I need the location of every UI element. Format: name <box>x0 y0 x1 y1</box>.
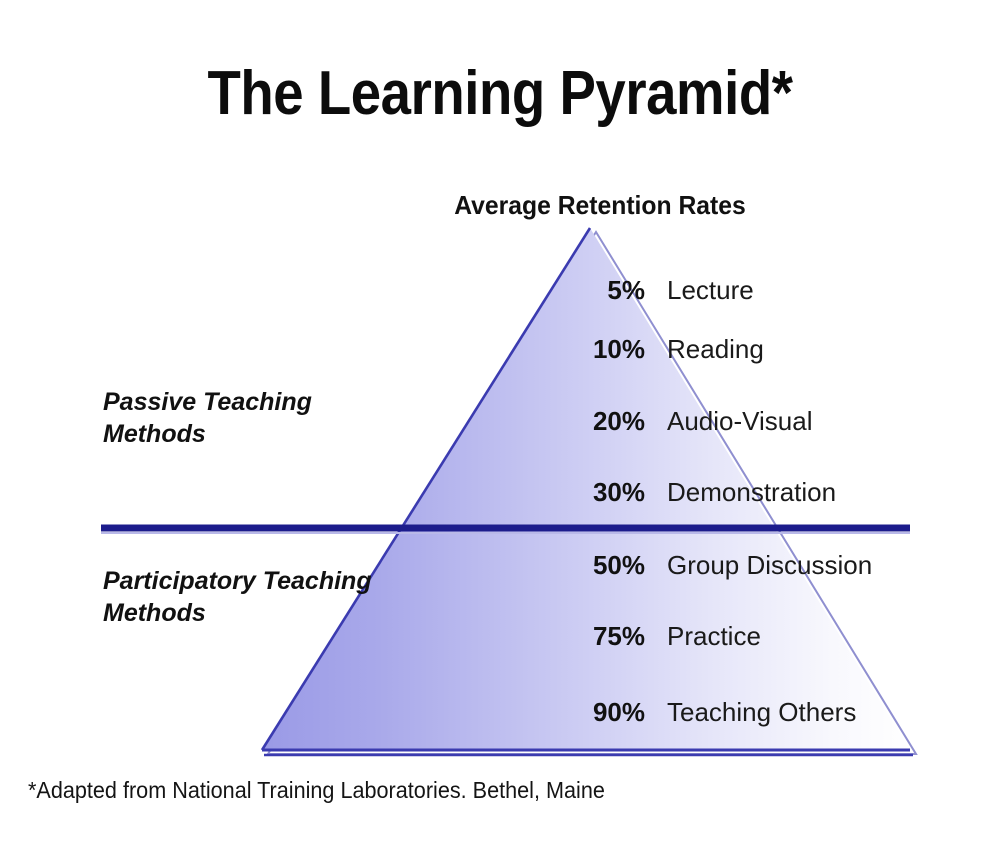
group-caption-participatory: Participatory Teaching Methods <box>103 565 403 629</box>
row-percent: 50% <box>535 550 645 581</box>
row-percent: 30% <box>535 477 645 508</box>
row-percent: 75% <box>535 621 645 652</box>
row-percent: 20% <box>535 406 645 437</box>
group-caption-passive: Passive Teaching Methods <box>103 386 403 450</box>
row-label: Practice <box>667 621 761 652</box>
row-percent: 90% <box>535 697 645 728</box>
row-label: Reading <box>667 334 764 365</box>
row-label: Audio-Visual <box>667 406 813 437</box>
row-percent: 10% <box>535 334 645 365</box>
footnote: *Adapted from National Training Laborato… <box>28 777 605 804</box>
row-label: Demonstration <box>667 477 836 508</box>
row-label: Group Discussion <box>667 550 872 581</box>
row-percent: 5% <box>535 275 645 306</box>
row-label: Lecture <box>667 275 754 306</box>
row-label: Teaching Others <box>667 697 856 728</box>
learning-pyramid-figure: The Learning Pyramid* Average Retention … <box>0 0 1000 843</box>
